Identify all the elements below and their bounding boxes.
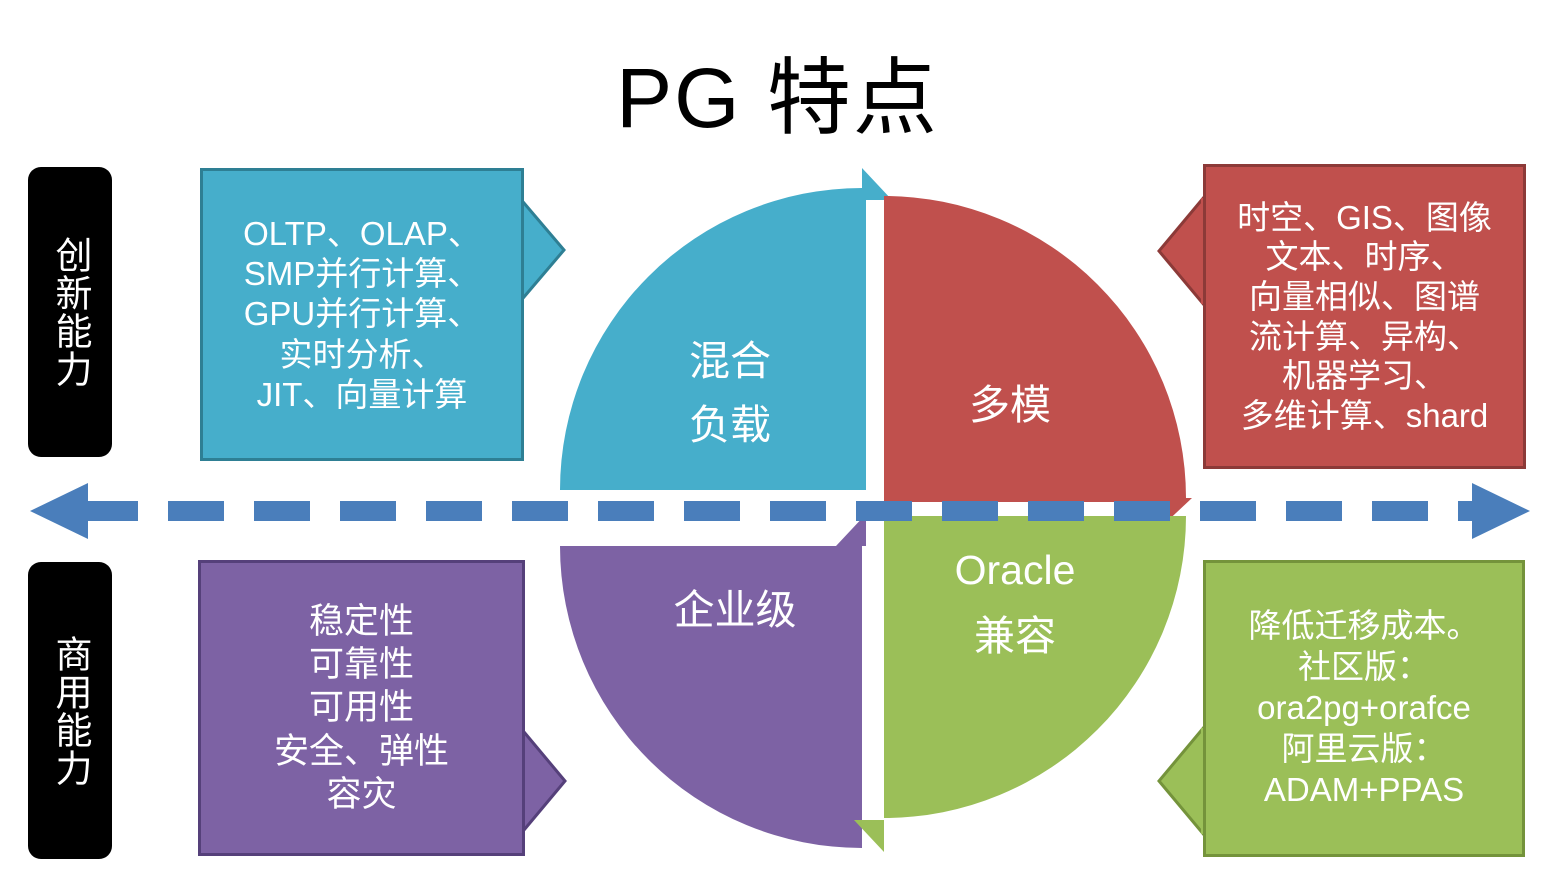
side-label-innovation: 创新能力 (28, 167, 112, 457)
side-label-commercial-text: 商用能力 (47, 635, 93, 787)
quadrant-label-multi-model: 多模 (910, 375, 1110, 437)
axis-arrow-left-head-icon (30, 483, 88, 539)
callout-green-text: 降低迁移成本。 社区版： ora2pg+orafce 阿里云版： ADAM+PP… (1203, 606, 1525, 811)
page-title: PG 特点 (0, 54, 1555, 142)
horizontal-axis-arrow (30, 480, 1530, 542)
quadrant-enterprise-shape (560, 514, 866, 848)
quadrant-label-hybrid-workload: 混合 负载 (620, 330, 840, 457)
callout-multi-model-features: 时空、GIS、图像 文本、时序、 向量相似、图谱 流计算、异构、 机器学习、 多… (1203, 164, 1526, 469)
diagram-canvas: PG 特点 创新能力 商用能力 混合 负载 多模 企业级 Oracle 兼容 (0, 0, 1555, 877)
axis-arrow-right-head-icon (1472, 483, 1530, 539)
quadrant-label-enterprise: 企业级 (625, 580, 845, 642)
callout-blue-text: OLTP、OLAP、 SMP并行计算、 GPU并行计算、 实时分析、 JIT、向… (200, 214, 524, 415)
quadrant-label-oracle-compat: Oracle 兼容 (900, 538, 1130, 669)
side-label-innovation-text: 创新能力 (47, 236, 93, 388)
callout-red-text: 时空、GIS、图像 文本、时序、 向量相似、图谱 流计算、异构、 机器学习、 多… (1203, 198, 1526, 436)
quadrant-multi-model-shape (884, 196, 1192, 528)
callout-oracle-migration: 降低迁移成本。 社区版： ora2pg+orafce 阿里云版： ADAM+PP… (1203, 560, 1525, 857)
side-label-commercial: 商用能力 (28, 562, 112, 859)
callout-innovation-workload: OLTP、OLAP、 SMP并行计算、 GPU并行计算、 实时分析、 JIT、向… (200, 168, 524, 461)
axis-arrow-svg (30, 480, 1530, 542)
callout-purple-text: 稳定性 可靠性 可用性 安全、弹性 容灾 (198, 600, 525, 815)
callout-enterprise-features: 稳定性 可靠性 可用性 安全、弹性 容灾 (198, 560, 525, 856)
